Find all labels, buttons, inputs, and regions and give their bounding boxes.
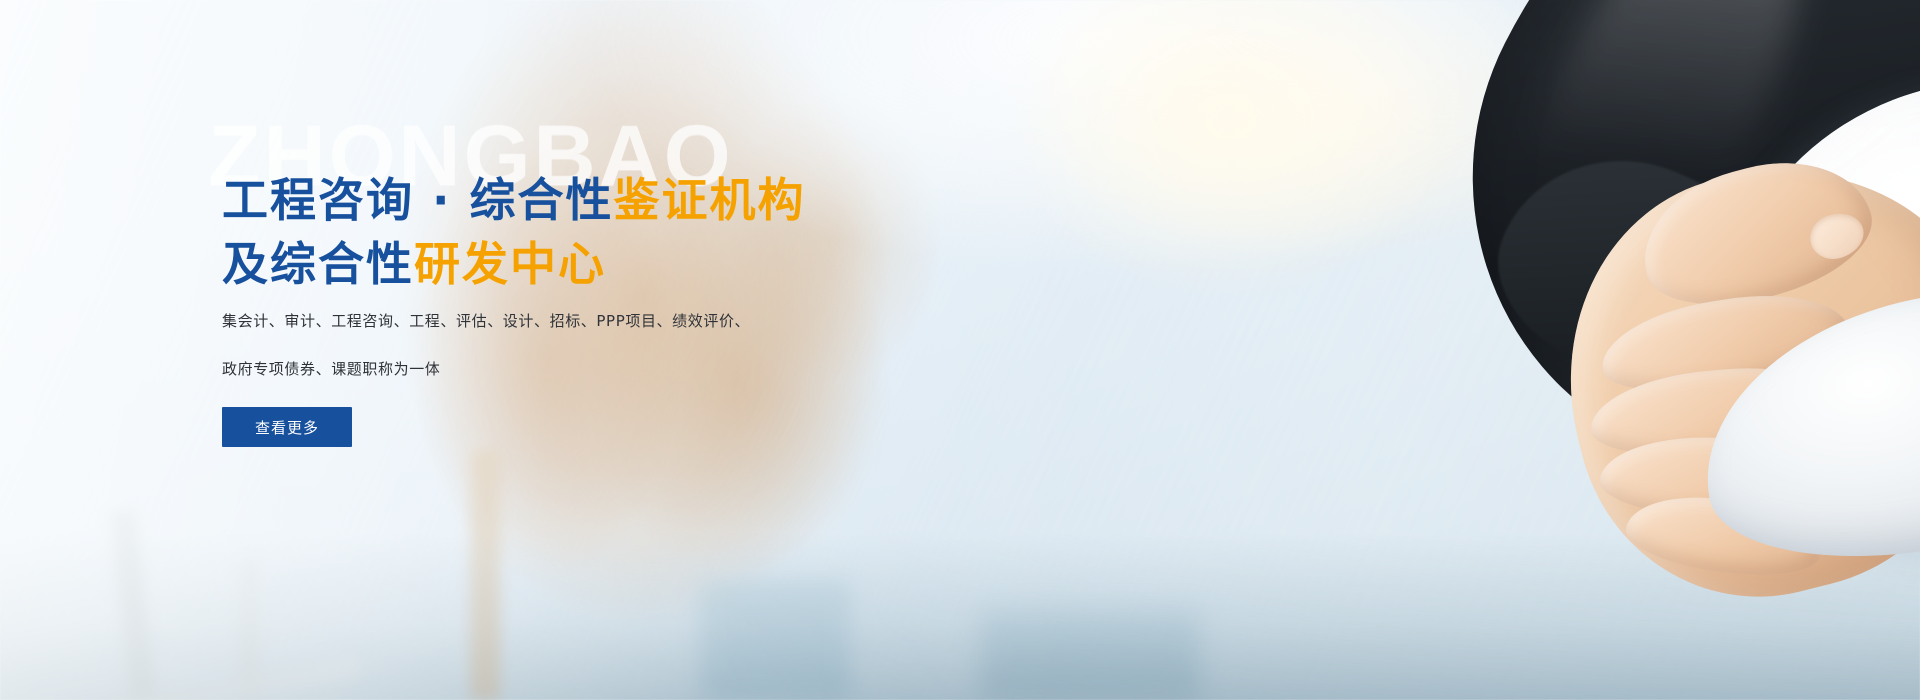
headline-line1-accent: 鉴证机构 <box>614 173 806 227</box>
headline-line-1: 工程咨询 · 综合性鉴证机构 <box>222 168 942 232</box>
hero-banner: 中宝工程管理 ZHONGBAO 工程咨询 · 综合性鉴证机构 <box>0 0 1920 700</box>
headline-line2-primary: 及综合性 <box>222 237 414 291</box>
headline-line2-accent: 研发中心 <box>414 237 606 291</box>
description-line-2: 政府专项债券、课题职称为一体 <box>222 358 822 380</box>
headline: 工程咨询 · 综合性鉴证机构 及综合性研发中心 <box>222 168 942 296</box>
headline-line1-primary: 工程咨询 · 综合性 <box>222 173 614 227</box>
description-line-1: 集会计、审计、工程咨询、工程、评估、设计、招标、PPP项目、绩效评价、 <box>222 310 822 332</box>
view-more-button[interactable]: 查看更多 <box>222 407 352 447</box>
headline-line-2: 及综合性研发中心 <box>222 232 942 296</box>
description: 集会计、审计、工程咨询、工程、评估、设计、招标、PPP项目、绩效评价、 政府专项… <box>222 310 822 406</box>
hero-content: ZHONGBAO 工程咨询 · 综合性鉴证机构 及综合性研发中心 集会计、审计、… <box>222 0 982 700</box>
